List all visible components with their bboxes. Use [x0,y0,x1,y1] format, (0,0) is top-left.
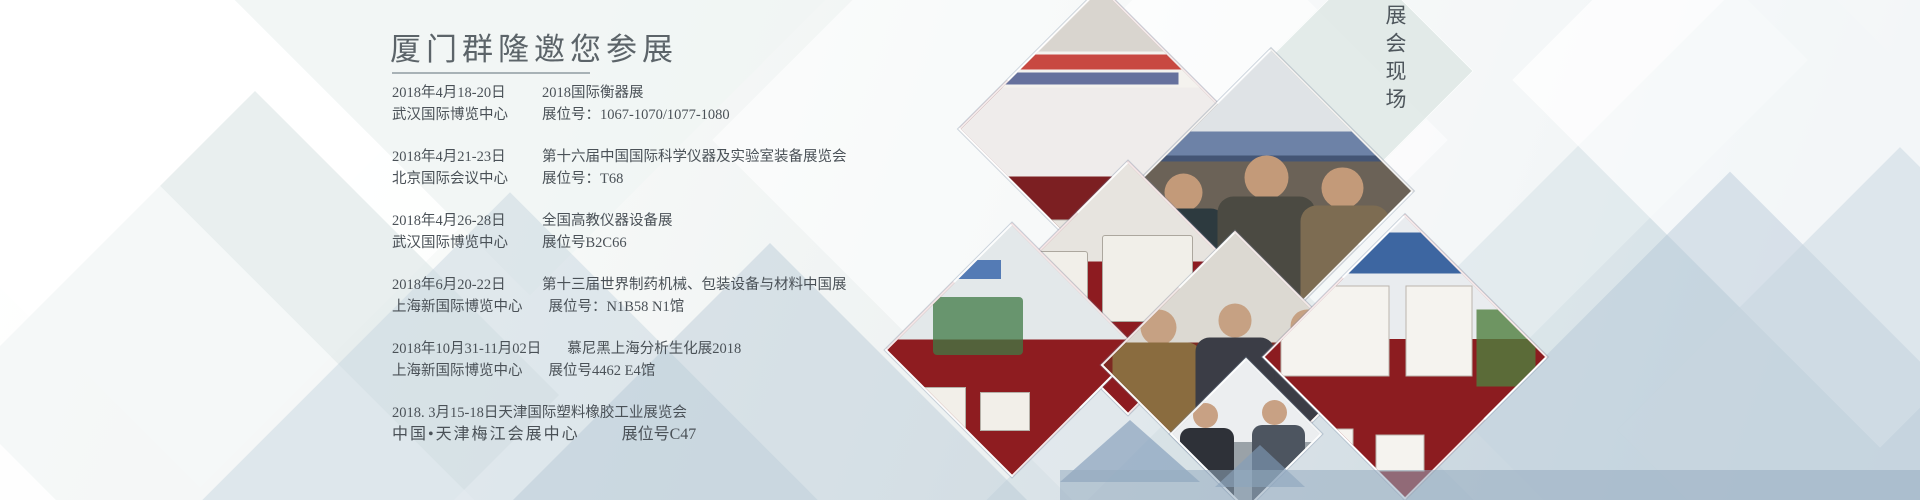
event-booth: 展位号4462 E4馆 [549,360,656,382]
event-item: 2018年4月26-28日 全国高教仪器设备展 武汉国际博览中心 展位号B2C6… [392,210,972,254]
event-line-primary: 2018年4月26-28日 全国高教仪器设备展 [392,210,972,232]
event-date: 2018年4月21-23日 [392,146,516,168]
product-box [1375,434,1425,472]
page-title: 厦门群隆邀您参展 [390,24,678,69]
event-booth: 展位号C47 [622,424,697,446]
photo-mosaic: 展会现场 [1020,0,1920,500]
event-name: 第十六届中国国际科学仪器及实验室装备展览会 [542,146,847,168]
event-date: 2018. 3月15-18日天津国际塑料橡胶工业展览会 [392,402,687,424]
white-device [980,392,1030,431]
event-name: 第十三届世界制药机械、包装设备与材料中国展 [542,274,847,296]
person-body [1252,425,1305,500]
event-date: 2018年10月31-11月02日 [392,338,541,360]
banner-content: 厦门群隆邀您参展 2018年4月18-20日 2018国际衡器展 武汉国际博览中… [0,0,1000,500]
event-line-secondary: 武汉国际博览中心 展位号B2C66 [392,232,972,254]
event-booth: 展位号：N1B58 N1馆 [549,296,685,318]
event-line-secondary: 北京国际会议中心 展位号：T68 [392,168,972,190]
event-item: 2018年10月31-11月02日 慕尼黑上海分析生化展2018 上海新国际博览… [392,338,972,382]
event-line-primary: 2018. 3月15-18日天津国际塑料橡胶工业展览会 [392,402,972,424]
event-line-secondary: 武汉国际博览中心 展位号：1067-1070/1077-1080 [392,104,972,126]
event-item: 2018年6月20-22日 第十三届世界制药机械、包装设备与材料中国展 上海新国… [392,274,972,318]
event-list: 2018年4月18-20日 2018国际衡器展 武汉国际博览中心 展位号：106… [392,82,972,466]
exhibition-banner: 厦门群隆邀您参展 2018年4月18-20日 2018国际衡器展 武汉国际博览中… [0,0,1920,500]
event-line-primary: 2018年4月21-23日 第十六届中国国际科学仪器及实验室装备展览会 [392,146,972,168]
event-line-primary: 2018年6月20-22日 第十三届世界制药机械、包装设备与材料中国展 [392,274,972,296]
machine-unit [933,297,1023,355]
event-name: 2018国际衡器展 [542,82,644,104]
event-date: 2018年4月18-20日 [392,82,516,104]
event-venue: 北京国际会议中心 [392,168,516,190]
event-venue: 武汉国际博览中心 [392,232,516,254]
booth-banner-red-text [976,55,1225,70]
event-venue: 上海新国际博览中心 [392,360,523,382]
event-line-secondary: 中国•天津梅江会展中心 展位号C47 [392,424,972,446]
machine-green [1476,309,1535,386]
visitor-head [1244,155,1289,200]
display-panel [1405,286,1472,377]
event-venue: 上海新国际博览中心 [392,296,523,318]
person-head [1193,403,1218,428]
event-line-secondary: 上海新国际博览中心 展位号4462 E4馆 [392,360,972,382]
event-booth: 展位号：T68 [542,168,623,190]
event-booth: 展位号B2C66 [542,232,627,254]
title-underline [392,72,590,74]
event-line-primary: 2018年4月18-20日 2018国际衡器展 [392,82,972,104]
event-line-secondary: 上海新国际博览中心 展位号：N1B58 N1馆 [392,296,972,318]
event-venue: 武汉国际博览中心 [392,104,516,126]
event-item: 2018年4月21-23日 第十六届中国国际科学仪器及实验室装备展览会 北京国际… [392,146,972,190]
event-item: 2018年4月18-20日 2018国际衡器展 武汉国际博览中心 展位号：106… [392,82,972,126]
event-item: 2018. 3月15-18日天津国际塑料橡胶工业展览会 中国•天津梅江会展中心 … [392,402,972,446]
booth-banner-company-text [1000,73,1178,85]
event-name: 全国高教仪器设备展 [542,210,673,232]
attendee-head [1218,304,1251,337]
event-date: 2018年4月26-28日 [392,210,516,232]
person-head [1262,400,1287,425]
person-body [1180,428,1233,500]
event-name: 慕尼黑上海分析生化展2018 [567,338,741,360]
event-booth: 展位号：1067-1070/1077-1080 [542,104,730,126]
event-venue: 中国•天津梅江会展中心 [392,424,580,446]
event-date: 2018年6月20-22日 [392,274,516,296]
visitor-head [1321,167,1363,209]
